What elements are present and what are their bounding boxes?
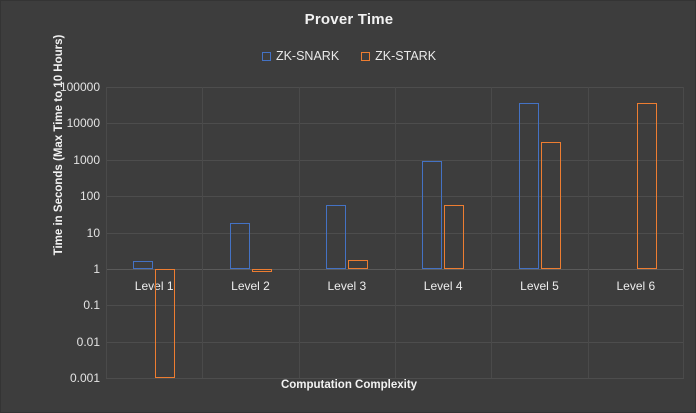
x-axis-tick-label: Level 6 xyxy=(616,279,655,293)
x-gridline xyxy=(106,87,107,378)
bar-zk-stark-level-2[interactable] xyxy=(252,269,272,273)
bar-zk-snark-level-3[interactable] xyxy=(326,205,346,269)
x-gridline xyxy=(395,87,396,378)
legend-label-zk-stark: ZK-STARK xyxy=(375,49,436,63)
y-axis-tick-label: 1000 xyxy=(73,153,100,167)
bar-zk-snark-level-5[interactable] xyxy=(519,103,539,269)
y-axis-tick-label: 0.001 xyxy=(70,371,100,385)
legend-item-zk-snark[interactable]: ZK-SNARK xyxy=(262,49,339,63)
x-gridline xyxy=(491,87,492,378)
bar-zk-stark-level-5[interactable] xyxy=(541,142,561,268)
x-axis-tick-label: Level 2 xyxy=(231,279,270,293)
bar-zk-snark-level-2[interactable] xyxy=(230,223,250,269)
y-axis-tick-label: 0.01 xyxy=(77,335,100,349)
x-gridline xyxy=(202,87,203,378)
legend-item-zk-stark[interactable]: ZK-STARK xyxy=(361,49,436,63)
x-axis-tick-label: Level 3 xyxy=(327,279,366,293)
bar-zk-snark-level-4[interactable] xyxy=(422,161,442,269)
bar-zk-stark-level-4[interactable] xyxy=(444,205,464,269)
legend-swatch-zk-stark xyxy=(361,52,370,61)
legend-label-zk-snark: ZK-SNARK xyxy=(276,49,339,63)
x-axis-title: Computation Complexity xyxy=(1,379,696,391)
y-axis-tick-label: 0.1 xyxy=(83,298,100,312)
bar-zk-stark-level-6[interactable] xyxy=(637,103,657,269)
y-axis-title: Time in Seconds (Max Time to 10 Hours) xyxy=(53,0,65,295)
x-gridline xyxy=(299,87,300,378)
bar-zk-stark-level-1[interactable] xyxy=(155,269,175,378)
bar-zk-stark-level-3[interactable] xyxy=(348,260,368,269)
legend-swatch-zk-snark xyxy=(262,52,271,61)
y-gridline xyxy=(106,378,684,379)
chart-legend: ZK-SNARK ZK-STARK xyxy=(1,49,696,63)
y-axis-tick-label: 1 xyxy=(93,262,100,276)
x-axis-tick-label: Level 4 xyxy=(424,279,463,293)
plot-area: 1000001000010001001010.10.010.001Level 1… xyxy=(106,87,684,378)
y-axis-tick-label: 10000 xyxy=(67,116,100,130)
chart-container: Prover Time ZK-SNARK ZK-STARK Time in Se… xyxy=(0,0,696,413)
bar-zk-snark-level-1[interactable] xyxy=(133,261,153,268)
y-axis-tick-label: 10 xyxy=(87,226,100,240)
chart-title: Prover Time xyxy=(1,11,696,28)
x-gridline xyxy=(588,87,589,378)
y-axis-tick-label: 100000 xyxy=(60,80,100,94)
y-axis-tick-label: 100 xyxy=(80,189,100,203)
x-gridline xyxy=(683,87,684,378)
x-axis-tick-label: Level 5 xyxy=(520,279,559,293)
